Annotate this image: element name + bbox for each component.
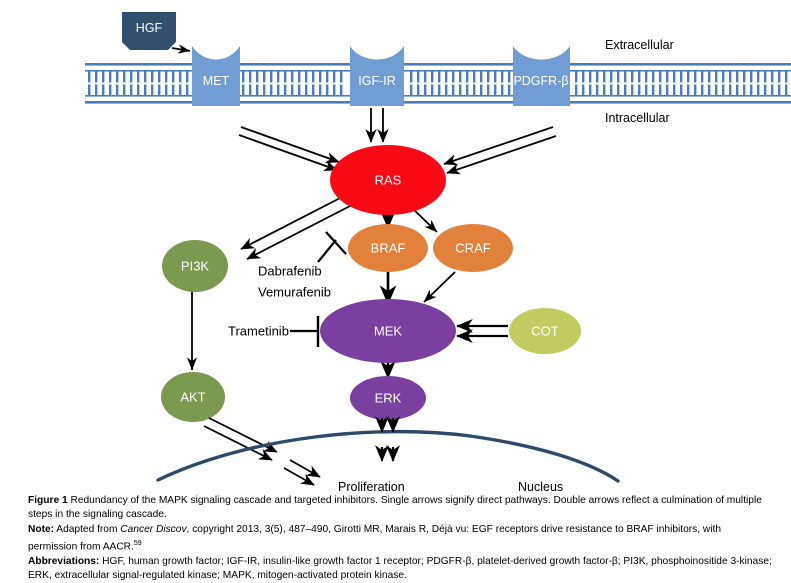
nucleus-label: Nucleus — [518, 480, 563, 494]
node-craf-label: CRAF — [455, 241, 490, 256]
caption-figure-line: Figure 1 Redundancy of the MAPK signalin… — [28, 494, 773, 523]
figure-container: Extracellular Intracellular HGF MET IGF-… — [0, 0, 791, 581]
inhibitor-bar-braf — [318, 232, 346, 262]
inhibitor-dabrafenib-label: Dabrafenib — [258, 264, 322, 279]
proliferation-label: Proliferation — [338, 480, 405, 494]
extracellular-label: Extracellular — [605, 38, 674, 52]
receptor-pdgfrb-label: PDGFR-β — [513, 74, 568, 88]
arrow-craf-to-mek — [424, 272, 455, 302]
node-cot-label: COT — [531, 324, 559, 339]
caption-note-label: Note: — [28, 524, 54, 535]
arrow-igfir-to-ras — [371, 108, 383, 142]
node-pi3k[interactable]: PI3K — [162, 240, 228, 292]
node-cot[interactable]: COT — [509, 308, 581, 354]
caption-abbrev-text: HGF, human growth factor; IGF-IR, insuli… — [28, 556, 772, 581]
nucleus-membrane-arc — [158, 432, 618, 481]
caption-note-superscript: 59 — [134, 540, 142, 547]
inhibitor-trametinib-label: Trametinib — [228, 324, 289, 339]
node-pi3k-label: PI3K — [181, 259, 210, 274]
caption-abbrev-line: Abbreviations: HGF, human growth factor;… — [28, 555, 773, 583]
caption-note-line: Note: Adapted from Cancer Discov, copyri… — [28, 523, 773, 555]
arrow-akt-into-nucleus — [284, 460, 320, 485]
receptor-met-label: MET — [203, 74, 230, 88]
node-braf[interactable]: BRAF — [348, 224, 428, 272]
caption-figure-label: Figure 1 — [28, 495, 68, 506]
node-erk-label: ERK — [375, 391, 402, 406]
node-akt-label: AKT — [180, 390, 205, 405]
ligand-hgf[interactable]: HGF — [122, 12, 176, 50]
node-craf[interactable]: CRAF — [433, 224, 513, 272]
node-braf-label: BRAF — [371, 241, 406, 256]
intracellular-label: Intracellular — [605, 111, 670, 125]
caption-figure-text: Redundancy of the MAPK signaling cascade… — [28, 495, 762, 520]
inhibitor-vemurafenib-label: Vemurafenib — [258, 285, 331, 300]
arrow-ras-to-craf — [412, 208, 437, 232]
receptor-pdgfrb[interactable]: PDGFR-β — [513, 46, 570, 106]
arrow-pdgfrb-to-ras — [444, 127, 556, 173]
plasma-membrane — [85, 63, 791, 104]
receptor-igfir-label: IGF-IR — [358, 74, 396, 88]
node-ras[interactable]: RAS — [330, 145, 446, 215]
figure-caption: Figure 1 Redundancy of the MAPK signalin… — [28, 494, 773, 583]
node-mek[interactable]: MEK — [320, 299, 456, 363]
caption-abbrev-label: Abbreviations: — [28, 556, 99, 567]
arrow-met-to-ras — [239, 127, 339, 170]
node-ras-label: RAS — [375, 173, 402, 188]
arrow-hgf-to-met — [172, 48, 190, 51]
node-mek-label: MEK — [374, 324, 403, 339]
receptor-igfir[interactable]: IGF-IR — [350, 46, 404, 106]
ligand-hgf-label: HGF — [136, 21, 163, 35]
node-erk[interactable]: ERK — [350, 376, 426, 420]
arrow-ras-to-pi3k — [241, 196, 350, 259]
mapk-pathway-diagram: Extracellular Intracellular HGF MET IGF-… — [0, 0, 791, 500]
arrow-akt-to-nucleus — [204, 418, 277, 460]
inhibitor-bar-mek — [290, 316, 318, 347]
caption-note-journal: Cancer Discov — [120, 524, 186, 535]
arrow-cot-to-mek — [457, 326, 508, 336]
node-akt[interactable]: AKT — [161, 372, 225, 422]
caption-note-pre: Adapted from — [54, 524, 120, 535]
arrow-erk-into-nucleus — [382, 447, 393, 461]
receptor-met[interactable]: MET — [192, 46, 240, 106]
